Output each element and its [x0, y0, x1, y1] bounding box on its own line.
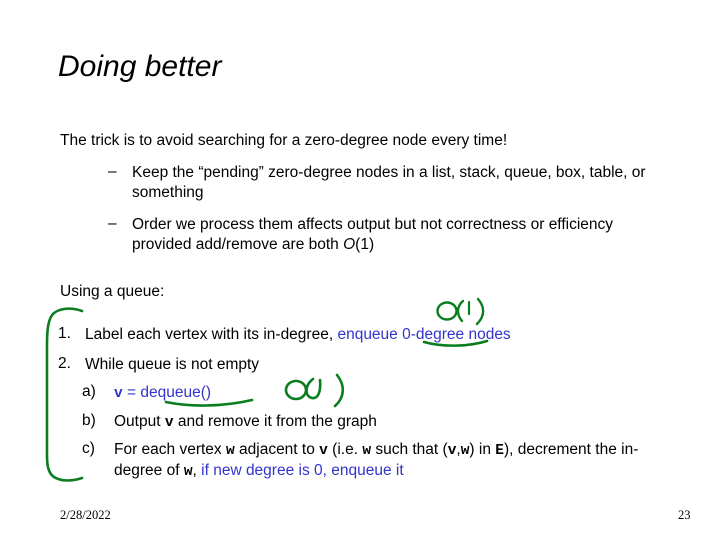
variable-v: v [319, 443, 328, 459]
variable-w: w [226, 443, 235, 459]
slide-canvas: Doing better The trick is to avoid searc… [0, 0, 720, 540]
footer-date: 2/28/2022 [60, 508, 111, 523]
step-1-text: Label each vertex with its in-degree, en… [85, 325, 668, 345]
variable-e: E [495, 443, 504, 459]
substep-c-part6: ) in [469, 441, 495, 458]
substep-b-part2: and remove it from the graph [174, 413, 377, 430]
using-a-queue-label: Using a queue: [60, 283, 164, 301]
dash-marker: – [108, 163, 117, 181]
substep-c-part8: , [193, 462, 202, 479]
substep-c-part4: such that ( [371, 441, 448, 458]
step-2-marker: 2. [58, 355, 71, 373]
substep-a-marker: a) [82, 383, 96, 401]
substep-c-marker: c) [82, 440, 95, 458]
substep-b-marker: b) [82, 412, 96, 430]
dequeue-call: dequeue [140, 384, 200, 401]
step-1-text-blue: enqueue 0-degree nodes [337, 326, 510, 343]
substep-c: c) For each vertex w adjacent to v (i.e.… [82, 440, 672, 482]
step-1-text-black: Label each vertex with its in-degree, [85, 326, 337, 343]
sub-bullet-1: – Keep the “pending” zero-degree nodes i… [108, 163, 673, 204]
lead-paragraph: The trick is to avoid searching for a ze… [60, 132, 507, 150]
substep-c-part1: For each vertex [114, 441, 226, 458]
step-2: 2. While queue is not empty [58, 355, 668, 375]
substep-a-text: v = dequeue() [114, 383, 672, 404]
substep-c-part3: (i.e. [328, 441, 362, 458]
sub-bullet-2-text: Order we process them affects output but… [132, 215, 673, 256]
step-1-marker: 1. [58, 325, 71, 343]
substep-c-text: For each vertex w adjacent to v (i.e. w … [114, 440, 672, 482]
variable-w: w [362, 443, 371, 459]
substep-c-part2: adjacent to [235, 441, 319, 458]
slide-title: Doing better [58, 50, 221, 84]
variable-w: w [184, 464, 193, 480]
step-2-text: While queue is not empty [85, 355, 668, 375]
substep-a: a) v = dequeue() [82, 383, 672, 404]
footer-page-number: 23 [678, 508, 691, 523]
substep-b-text: Output v and remove it from the graph [114, 412, 672, 433]
substep-b-part1: Output [114, 413, 165, 430]
step-1: 1. Label each vertex with its in-degree,… [58, 325, 668, 345]
sub-bullet-1-text: Keep the “pending” zero-degree nodes in … [132, 163, 673, 204]
sub-bullet-2: – Order we process them affects output b… [108, 215, 673, 256]
handwritten-note-o1 [438, 299, 484, 324]
big-o-argument: (1) [355, 236, 374, 253]
substep-b: b) Output v and remove it from the graph [82, 412, 672, 433]
dash-marker: – [108, 215, 117, 233]
call-parens: () [201, 384, 211, 401]
variable-v: v [114, 386, 123, 402]
assign-operator: = [123, 384, 141, 401]
variable-v: v [165, 415, 174, 431]
big-o-symbol: O [343, 236, 355, 253]
substep-c-blue-tail: if new degree is 0, enqueue it [201, 462, 404, 479]
